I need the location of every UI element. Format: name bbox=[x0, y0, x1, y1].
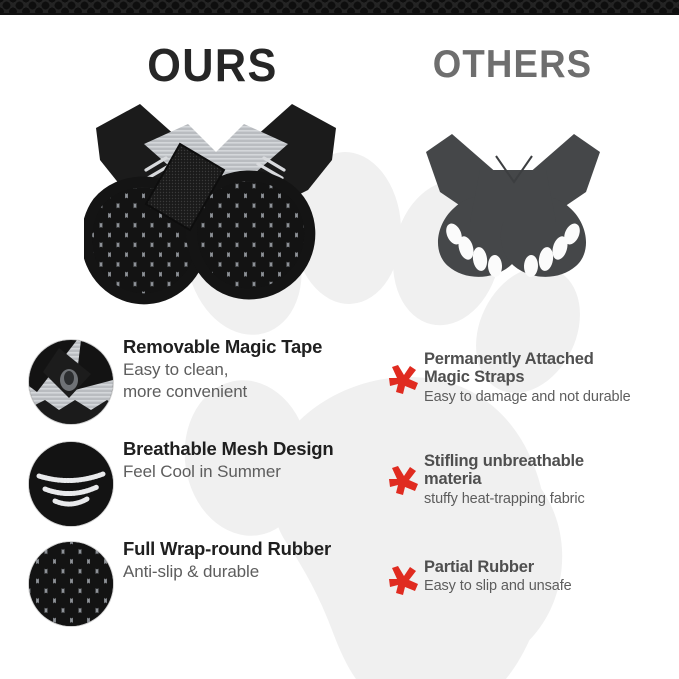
others-subtitle: Easy to slip and unsafe bbox=[424, 578, 674, 595]
red-x-icon bbox=[388, 465, 419, 496]
thumb-velcro-strap bbox=[29, 340, 113, 424]
ours-feature-2: Breathable Mesh Design Feel Cool in Summ… bbox=[123, 438, 385, 483]
ours-subtitle-line: Feel Cool in Summer bbox=[123, 461, 385, 482]
ours-feature-3: Full Wrap-round Rubber Anti-slip & durab… bbox=[123, 538, 385, 583]
others-title-line: Stifling unbreathable bbox=[424, 452, 674, 470]
ours-subtitle: Feel Cool in Summer bbox=[123, 461, 385, 482]
others-title-line: Partial Rubber bbox=[424, 558, 674, 576]
ours-subtitle-line: more convenient bbox=[123, 381, 385, 402]
comparison-infographic: OURS OTHERS bbox=[0, 0, 679, 679]
top-honeycomb-band bbox=[0, 0, 679, 15]
ours-subtitle: Easy to clean, more convenient bbox=[123, 359, 385, 402]
ours-subtitle: Anti-slip & durable bbox=[123, 561, 385, 582]
ours-title: Breathable Mesh Design bbox=[123, 438, 385, 459]
others-title: Stifling unbreathable materia bbox=[424, 452, 674, 489]
others-feature-3: Partial Rubber Easy to slip and unsafe bbox=[424, 558, 674, 596]
others-title-line: Permanently Attached bbox=[424, 350, 674, 368]
ours-subtitle-line: Easy to clean, bbox=[123, 359, 385, 380]
comparison-rows: Removable Magic Tape Easy to clean, more… bbox=[0, 0, 679, 679]
thumb-honeycomb-rubber bbox=[29, 542, 113, 626]
others-subtitle: Easy to damage and not durable bbox=[424, 389, 674, 406]
ours-subtitle-line: Anti-slip & durable bbox=[123, 561, 385, 582]
red-x-icon bbox=[388, 364, 419, 395]
others-title: Permanently Attached Magic Straps bbox=[424, 350, 674, 387]
thumb-breathable-mesh bbox=[29, 442, 113, 526]
others-feature-1: Permanently Attached Magic Straps Easy t… bbox=[424, 350, 674, 406]
ours-title: Full Wrap-round Rubber bbox=[123, 538, 385, 559]
others-title-line: materia bbox=[424, 470, 674, 488]
others-title-line: Magic Straps bbox=[424, 368, 674, 386]
band-bottom-edge bbox=[0, 13, 679, 15]
ours-title: Removable Magic Tape bbox=[123, 336, 385, 357]
others-feature-2: Stifling unbreathable materia stuffy hea… bbox=[424, 452, 674, 508]
ours-feature-1: Removable Magic Tape Easy to clean, more… bbox=[123, 336, 385, 402]
others-subtitle: stuffy heat-trapping fabric bbox=[424, 491, 674, 508]
red-x-icon bbox=[388, 565, 419, 596]
others-title: Partial Rubber bbox=[424, 558, 674, 576]
